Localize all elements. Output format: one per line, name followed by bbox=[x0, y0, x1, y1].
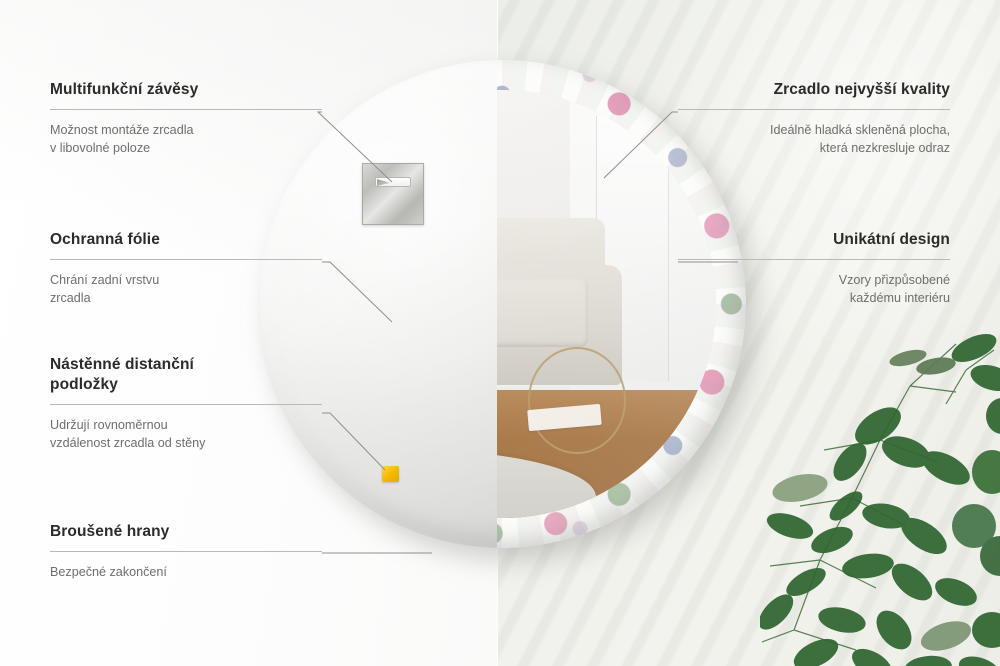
callout-divider bbox=[50, 404, 322, 405]
callout-desc-line-1: Ideálně hladká skleněná plocha, bbox=[770, 123, 950, 137]
callout-title: Zrcadlo nejvyšší kvality bbox=[678, 80, 950, 100]
yellow-spacer-pad bbox=[382, 466, 399, 482]
callout-description: Udržují rovnoměrnou vzdálenost zrcadla o… bbox=[50, 416, 322, 453]
keyhole-slot-icon bbox=[375, 177, 411, 187]
callout-title: Ochranná fólie bbox=[50, 230, 322, 250]
callout-ochranna-folie: Ochranná fólie Chrání zadní vrstvu zrcad… bbox=[50, 230, 322, 308]
callout-divider bbox=[50, 109, 322, 110]
foliage-plant-decoration bbox=[760, 330, 1000, 666]
round-mirror bbox=[258, 60, 746, 548]
callout-title-line-1: Nástěnné distanční bbox=[50, 356, 194, 373]
callout-divider bbox=[50, 259, 322, 260]
callout-unikatni-design: Unikátní design Vzory přizpůsobené každé… bbox=[678, 230, 950, 308]
hanger-plate bbox=[362, 163, 424, 225]
callout-description: Ideálně hladká skleněná plocha, která ne… bbox=[678, 121, 950, 158]
callout-title-line-2: podložky bbox=[50, 376, 118, 393]
callout-desc-line-2: která nezkresluje odraz bbox=[820, 141, 950, 155]
callout-desc-line-2: v libovolné poloze bbox=[50, 141, 150, 155]
callout-desc-line-1: Možnost montáže zrcadla bbox=[50, 123, 194, 137]
callout-desc-line-1: Chrání zadní vrstvu bbox=[50, 273, 159, 287]
callout-title: Multifunkční závěsy bbox=[50, 80, 322, 100]
callout-description: Bezpečné zakončení bbox=[50, 563, 322, 582]
callout-brousene-hrany: Broušené hrany Bezpečné zakončení bbox=[50, 522, 322, 581]
callout-divider bbox=[678, 259, 950, 260]
callout-title: Unikátní design bbox=[678, 230, 950, 250]
callout-desc-line-2: zrcadla bbox=[50, 291, 91, 305]
callout-desc-line-2: každému interiéru bbox=[850, 291, 950, 305]
callout-description: Vzory přizpůsobené každému interiéru bbox=[678, 271, 950, 308]
callout-desc-line-2: vzdálenost zrcadla od stěny bbox=[50, 436, 205, 450]
callout-divider bbox=[50, 551, 322, 552]
callout-desc-line-1: Udržují rovnoměrnou bbox=[50, 418, 168, 432]
mirror-disc bbox=[258, 60, 746, 548]
product-infographic: Multifunkční závěsy Možnost montáže zrca… bbox=[0, 0, 1000, 666]
callout-divider bbox=[678, 109, 950, 110]
callout-zrcadlo-nejvyssi-kvality: Zrcadlo nejvyšší kvality Ideálně hladká … bbox=[678, 80, 950, 158]
callout-description: Možnost montáže zrcadla v libovolné polo… bbox=[50, 121, 322, 158]
callout-multifunkcni-zavesy: Multifunkční závěsy Možnost montáže zrca… bbox=[50, 80, 322, 158]
callout-title: Broušené hrany bbox=[50, 522, 322, 542]
callout-desc-line-1: Vzory přizpůsobené bbox=[839, 273, 950, 287]
callout-description: Chrání zadní vrstvu zrcadla bbox=[50, 271, 322, 308]
callout-title: Nástěnné distanční podložky bbox=[50, 355, 322, 395]
callout-nastenne-distancni-podlozky: Nástěnné distanční podložky Udržují rovn… bbox=[50, 355, 322, 453]
